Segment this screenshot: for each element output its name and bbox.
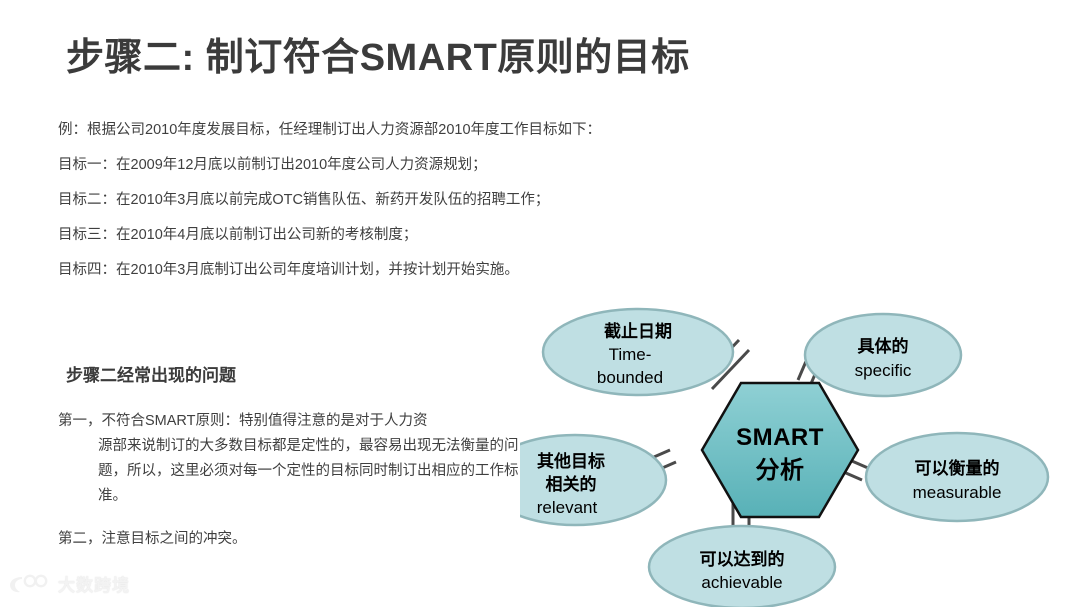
example-line-intro: 例：根据公司2010年度发展目标，任经理制订出人力资源部2010年度工作目标如下… bbox=[58, 113, 758, 148]
example-line-goal-2: 目标二：在2010年3月底以前完成OTC销售队伍、新药开发队伍的招聘工作； bbox=[58, 183, 758, 218]
problem-item-two: 第二，注意目标之间的冲突。 bbox=[58, 527, 528, 552]
relevant-en-label: relevant bbox=[537, 498, 598, 517]
problem-one-first-line: 第一，不符合SMART原则：特别值得注意的是对于人力资 bbox=[58, 409, 528, 434]
smart-diagram: 截止日期 Time- bounded 具体的 specific 可以衡量的 me… bbox=[520, 290, 1080, 607]
problems-heading: 步骤二经常出现的问题 bbox=[66, 361, 236, 386]
relevant-cn-line2: 相关的 bbox=[546, 474, 597, 494]
watermark: 大数跨境 bbox=[8, 571, 130, 596]
achievable-en-label: achievable bbox=[701, 573, 782, 592]
diagram-center-hexagon[interactable]: SMART 分析 bbox=[702, 383, 858, 517]
example-line-goal-3: 目标三：在2010年4月底以前制订出公司新的考核制度； bbox=[58, 218, 758, 253]
specific-en-label: specific bbox=[855, 361, 912, 380]
page-title: 步骤二: 制订符合SMART原则的目标 bbox=[66, 26, 690, 81]
hexagon-label-line2: 分析 bbox=[756, 457, 805, 484]
time-bounded-cn-label: 截止日期 bbox=[604, 321, 672, 341]
measurable-cn-label: 可以衡量的 bbox=[915, 458, 1000, 478]
problem-one-rest: 源部来说制订的大多数目标都是定性的，最容易出现无法衡量的问题，所以，这里必须对每… bbox=[58, 434, 528, 509]
diagram-node-time-bounded[interactable]: 截止日期 Time- bounded bbox=[543, 309, 733, 395]
time-bounded-en-line1: Time- bbox=[609, 345, 652, 364]
example-line-goal-4: 目标四：在2010年3月底制订出公司年度培训计划，并按计划开始实施。 bbox=[58, 253, 758, 288]
relevant-cn-line1: 其他目标 bbox=[537, 451, 605, 471]
diagram-node-relevant[interactable]: 其他目标 相关的 relevant bbox=[520, 435, 666, 525]
hexagon-label-line1: SMART bbox=[736, 424, 824, 451]
brand-logo-icon bbox=[8, 573, 52, 595]
watermark-text: 大数跨境 bbox=[58, 571, 130, 596]
diagram-node-achievable[interactable]: 可以达到的 achievable bbox=[649, 526, 835, 607]
specific-cn-label: 具体的 bbox=[857, 336, 909, 356]
example-block: 例：根据公司2010年度发展目标，任经理制订出人力资源部2010年度工作目标如下… bbox=[58, 113, 758, 288]
measurable-en-label: measurable bbox=[913, 483, 1002, 502]
example-line-goal-1: 目标一：在2009年12月底以前制订出2010年度公司人力资源规划； bbox=[58, 148, 758, 183]
problem-item-one: 第一，不符合SMART原则：特别值得注意的是对于人力资 源部来说制订的大多数目标… bbox=[58, 409, 528, 509]
slide-canvas: 步骤二: 制订符合SMART原则的目标 例：根据公司2010年度发展目标，任经理… bbox=[0, 0, 1080, 607]
diagram-node-specific[interactable]: 具体的 specific bbox=[805, 314, 961, 396]
time-bounded-en-line2: bounded bbox=[597, 368, 663, 387]
achievable-cn-label: 可以达到的 bbox=[700, 549, 785, 569]
diagram-node-measurable[interactable]: 可以衡量的 measurable bbox=[866, 433, 1048, 521]
